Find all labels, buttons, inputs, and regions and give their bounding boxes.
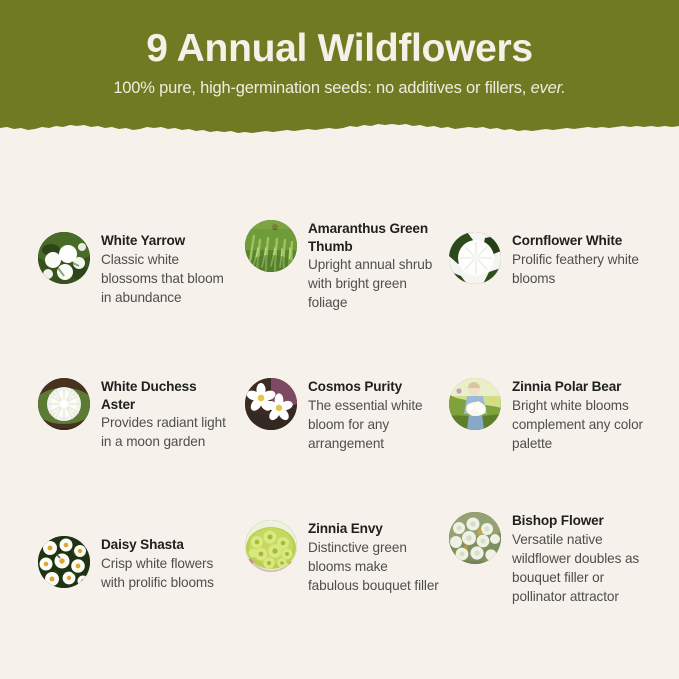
item-name: Amaranthus Green Thumb [308, 220, 440, 255]
zinnia-envy-photo-icon [245, 520, 297, 572]
item-name: Zinnia Envy [308, 520, 440, 538]
item-description: Classic white blossoms that bloom in abu… [101, 250, 233, 307]
zinnia-polar-bear-thumbnail [449, 378, 501, 430]
torn-paper-edge [0, 119, 679, 140]
bishop-flower-photo-icon [449, 512, 501, 564]
white-yarrow-thumbnail [38, 232, 90, 284]
page-subtitle: 100% pure, high-germination seeds: no ad… [0, 77, 679, 99]
bishop-flower-thumbnail [449, 512, 501, 564]
list-item[interactable]: Daisy Shasta Crisp white flowers with pr… [38, 536, 233, 592]
white-yarrow-photo-icon [38, 232, 90, 284]
subtitle-emphasis-text: ever. [531, 79, 566, 97]
white-duchess-aster-photo-icon [38, 378, 90, 430]
list-item[interactable]: White Duchess Aster Provides radiant lig… [38, 378, 233, 451]
subtitle-main-text: 100% pure, high-germination seeds: no ad… [113, 79, 526, 97]
cornflower-white-thumbnail [449, 232, 501, 284]
item-description: Versatile native wildflower doubles as b… [512, 530, 644, 606]
item-description: Provides radiant light in a moon garden [101, 413, 233, 451]
zinnia-polar-bear-photo-icon [449, 378, 501, 430]
list-item[interactable]: Amaranthus Green Thumb Upright annual sh… [245, 220, 440, 312]
item-description: Bright white blooms complement any color… [512, 396, 644, 453]
cosmos-purity-photo-icon [245, 378, 297, 430]
white-duchess-aster-thumbnail [38, 378, 90, 430]
amaranthus-green-thumb-photo-icon [245, 220, 297, 272]
item-description: Distinctive green blooms make fabulous b… [308, 538, 440, 595]
list-item[interactable]: Cornflower White Prolific feathery white… [449, 232, 644, 288]
item-name: Cornflower White [512, 232, 644, 250]
item-name: White Yarrow [101, 232, 233, 250]
list-item[interactable]: Bishop Flower Versatile native wildflowe… [449, 512, 644, 606]
item-name: Bishop Flower [512, 512, 644, 530]
item-description: Prolific feathery white blooms [512, 250, 644, 288]
header-banner: 9 Annual Wildflowers 100% pure, high-ger… [0, 0, 679, 140]
cornflower-white-photo-icon [449, 232, 501, 284]
amaranthus-green-thumb-thumbnail [245, 220, 297, 272]
page-title: 9 Annual Wildflowers [0, 26, 679, 72]
list-item[interactable]: Zinnia Envy Distinctive green blooms mak… [245, 520, 440, 595]
item-description: The essential white bloom for any arrang… [308, 396, 440, 453]
daisy-shasta-thumbnail [38, 536, 90, 588]
item-name: Daisy Shasta [101, 536, 233, 554]
list-item[interactable]: Zinnia Polar Bear Bright white blooms co… [449, 378, 644, 453]
item-description: Upright annual shrub with bright green f… [308, 255, 440, 312]
cosmos-purity-thumbnail [245, 378, 297, 430]
item-name: White Duchess Aster [101, 378, 233, 413]
infographic-page: 9 Annual Wildflowers 100% pure, high-ger… [0, 0, 679, 679]
wildflower-grid: White Yarrow Classic white blossoms that… [0, 140, 679, 679]
daisy-shasta-photo-icon [38, 536, 90, 588]
item-name: Cosmos Purity [308, 378, 440, 396]
item-name: Zinnia Polar Bear [512, 378, 644, 396]
list-item[interactable]: Cosmos Purity The essential white bloom … [245, 378, 440, 453]
item-description: Crisp white flowers with prolific blooms [101, 554, 233, 592]
list-item[interactable]: White Yarrow Classic white blossoms that… [38, 232, 233, 307]
zinnia-envy-thumbnail [245, 520, 297, 572]
